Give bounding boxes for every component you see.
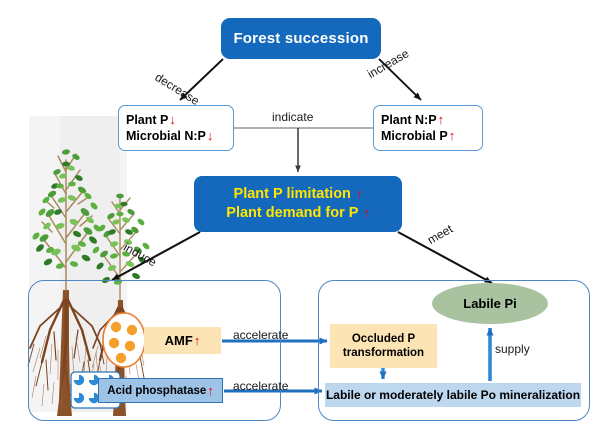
right-indicator-line-1: Plant N:P ↑ [381, 112, 475, 128]
acid-phosphatase-label: Acid phosphatase [107, 385, 206, 397]
plant-p-limitation-box[interactable]: Plant P limitation ↑ Plant demand for P … [194, 176, 402, 232]
center-line-2: Plant demand for P ↑ [226, 204, 369, 223]
center-line-1: Plant P limitation ↑ [234, 185, 363, 204]
right-indicator-line-2: Microbial P ↑ [381, 128, 475, 144]
left-indicator-line-1: Plant P ↓ [126, 112, 226, 128]
edge-label-decrease: decrease [153, 70, 202, 108]
up-arrow-icon: ↑ [448, 128, 456, 144]
edge-label-accelerate-2: accelerate [233, 379, 288, 393]
down-arrow-icon: ↓ [168, 112, 176, 128]
edge-label-accelerate-1: accelerate [233, 328, 288, 342]
forest-succession-box[interactable]: Forest succession [221, 18, 381, 59]
up-arrow-icon: ↑ [193, 333, 201, 348]
edge-label-meet: meet [425, 222, 455, 247]
occluded-p-transformation-box[interactable]: Occluded P transformation [330, 324, 437, 368]
right-indicator-box[interactable]: Plant N:P ↑ Microbial P ↑ [373, 105, 483, 151]
left-indicator-box[interactable]: Plant P ↓ Microbial N:P ↓ [118, 105, 234, 151]
center-line-1-text: Plant P limitation [234, 186, 351, 202]
po-mineralization-box[interactable]: Labile or moderately labile Po mineraliz… [325, 383, 581, 407]
down-arrow-icon: ↓ [206, 128, 214, 144]
up-arrow-icon: ↑ [437, 112, 445, 128]
amf-label: AMF [165, 333, 193, 348]
labile-pi-ellipse[interactable]: Labile Pi [432, 283, 548, 324]
right-indicator-line-1-text: Plant N:P [381, 113, 437, 128]
edge-label-supply: supply [495, 342, 530, 356]
center-line-2-text: Plant demand for P [226, 205, 358, 221]
left-indicator-line-1-text: Plant P [126, 113, 168, 128]
right-indicator-line-2-text: Microbial P [381, 129, 448, 144]
forest-succession-label: Forest succession [233, 30, 368, 47]
po-mineralization-label: Labile or moderately labile Po mineraliz… [326, 388, 580, 402]
up-arrow-icon: ↑ [362, 205, 370, 220]
edge-label-induce: induce [121, 240, 159, 269]
edge-label-indicate: indicate [272, 110, 313, 124]
amf-box[interactable]: AMF ↑ [144, 327, 221, 354]
up-arrow-icon: ↑ [355, 186, 363, 201]
left-indicator-line-2: Microbial N:P ↓ [126, 128, 226, 144]
acid-phosphatase-box[interactable]: Acid phosphatase ↑ [98, 378, 223, 403]
labile-pi-label: Labile Pi [463, 296, 516, 311]
diagram-canvas: Forest succession Plant P ↓ Microbial N:… [0, 0, 600, 433]
occluded-p-line-2: transformation [343, 346, 424, 360]
left-indicator-line-2-text: Microbial N:P [126, 129, 206, 144]
up-arrow-icon: ↑ [206, 383, 214, 398]
occluded-p-line-1: Occluded P [352, 332, 415, 346]
